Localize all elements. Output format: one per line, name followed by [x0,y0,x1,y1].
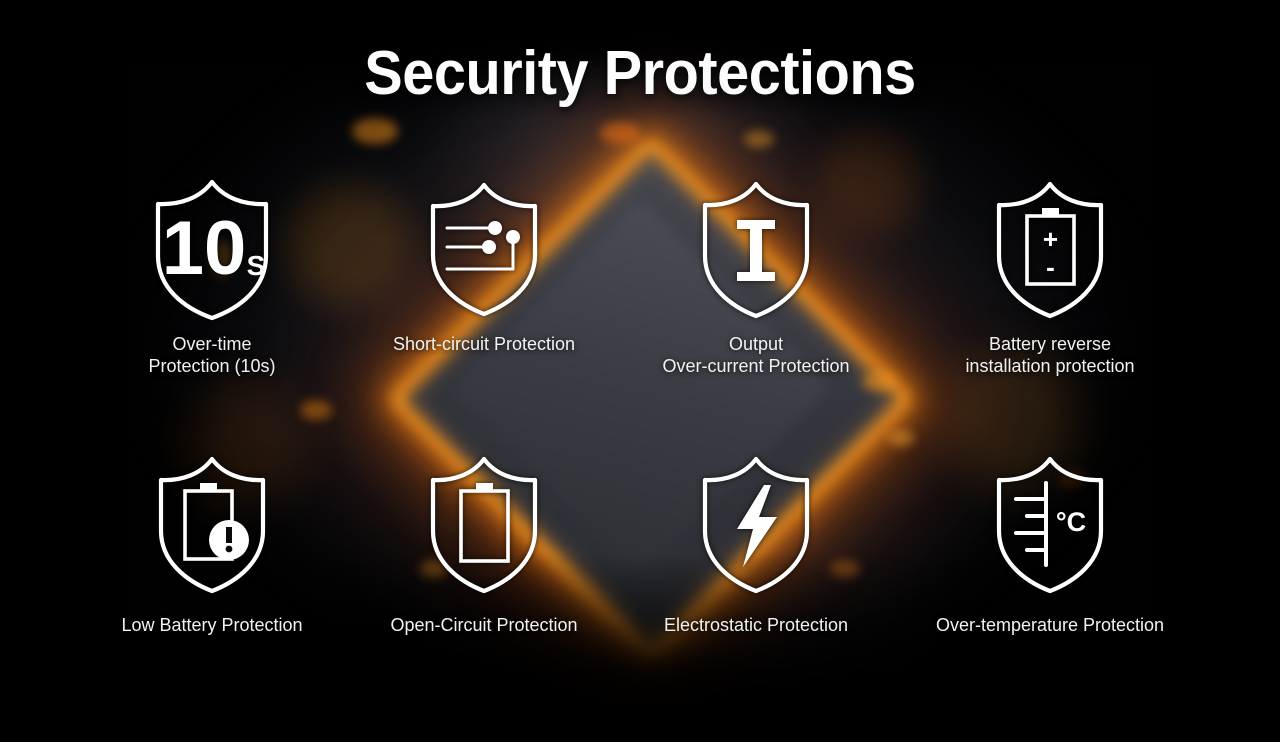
plus-sign: + [1043,224,1058,254]
feature-open-circuit-protection[interactable]: Open-Circuit Protection [334,450,634,636]
terminal-dot [506,230,520,244]
features-grid: 10 S Over-time Protection (10s) Short [0,0,1280,742]
battery-body [461,491,508,561]
shield-thermometer-icon: °C [900,450,1200,600]
feature-label: Over-time Protection (10s) [62,333,362,377]
feature-low-battery-protection[interactable]: Low Battery Protection [62,450,362,636]
feature-label: Electrostatic Protection [606,614,906,636]
lightning-bolt [737,485,777,567]
terminal-dot [488,221,502,235]
shield-battery-warning-icon [62,450,362,600]
feature-short-circuit-protection[interactable]: Short-circuit Protection [334,175,634,355]
feature-over-temperature-protection[interactable]: °C Over-temperature Protection [900,450,1200,636]
feature-electrostatic-protection[interactable]: Electrostatic Protection [606,450,906,636]
feature-label: Output Over-current Protection [606,333,906,377]
feature-label: Battery reverse installation protection [900,333,1200,377]
badge-number: 10 [162,206,247,291]
shield-current-i-icon [606,175,906,325]
shield-short-circuit-icon [334,175,634,325]
feature-over-time-protection[interactable]: 10 S Over-time Protection (10s) [62,175,362,377]
thermometer-scale [1016,483,1046,565]
feature-battery-reverse-protection[interactable]: + - Battery reverse installation protect… [900,175,1200,377]
feature-label: Over-temperature Protection [900,614,1200,636]
infographic-canvas: Security Protections 10 S Over-time Prot… [0,0,1280,742]
current-symbol [737,220,775,281]
terminal-dot [482,240,496,254]
feature-label: Short-circuit Protection [334,333,634,355]
shield-battery-polarity-icon: + - [900,175,1200,325]
feature-output-over-current-protection[interactable]: Output Over-current Protection [606,175,906,377]
shield-lightning-bolt-icon [606,450,906,600]
feature-label: Open-Circuit Protection [334,614,634,636]
minus-sign: - [1046,252,1055,282]
badge-unit: S [247,250,266,281]
celsius-unit: °C [1056,507,1086,537]
feature-label: Low Battery Protection [62,614,362,636]
shield-battery-empty-icon [334,450,634,600]
shield-10s-icon: 10 S [62,175,362,325]
